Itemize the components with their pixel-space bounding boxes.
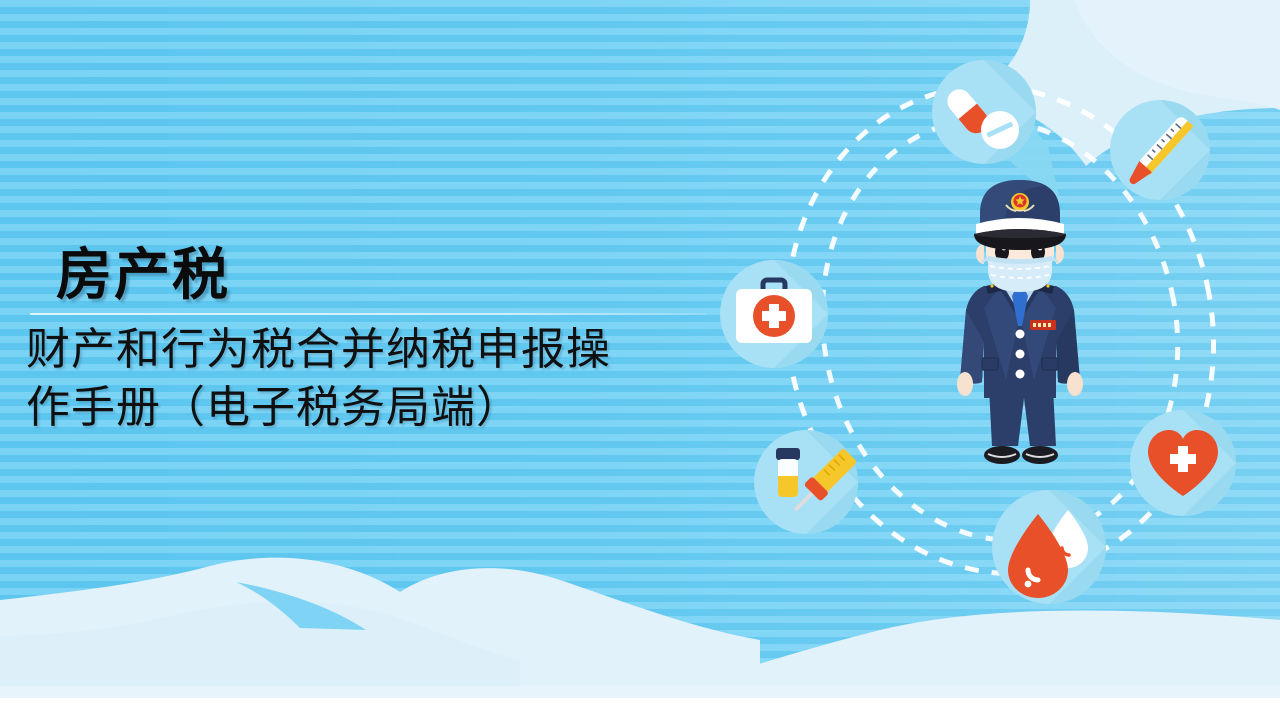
hand-left	[957, 372, 973, 396]
pill-capsule-icon	[930, 58, 1038, 166]
jacket-button	[1016, 350, 1025, 359]
bottom-white-band	[0, 698, 1280, 720]
pocket-right	[1042, 358, 1058, 370]
jacket-button	[1016, 370, 1025, 379]
tax-officer-mascot	[930, 168, 1110, 480]
blood-drop-icon	[990, 488, 1108, 606]
first-aid-kit-icon	[718, 258, 830, 370]
jacket-button	[1016, 330, 1025, 339]
hand-right	[1067, 372, 1083, 396]
title-slide: 房产税 财产和行为税合并纳税申报操 作手册（电子税务局端）	[0, 0, 1280, 720]
heart-cross-icon	[1128, 408, 1238, 518]
pocket-left	[982, 358, 998, 370]
vaccine-syringe-icon	[752, 428, 860, 536]
vial-shape	[776, 448, 800, 497]
thermometer-icon	[1108, 98, 1212, 202]
